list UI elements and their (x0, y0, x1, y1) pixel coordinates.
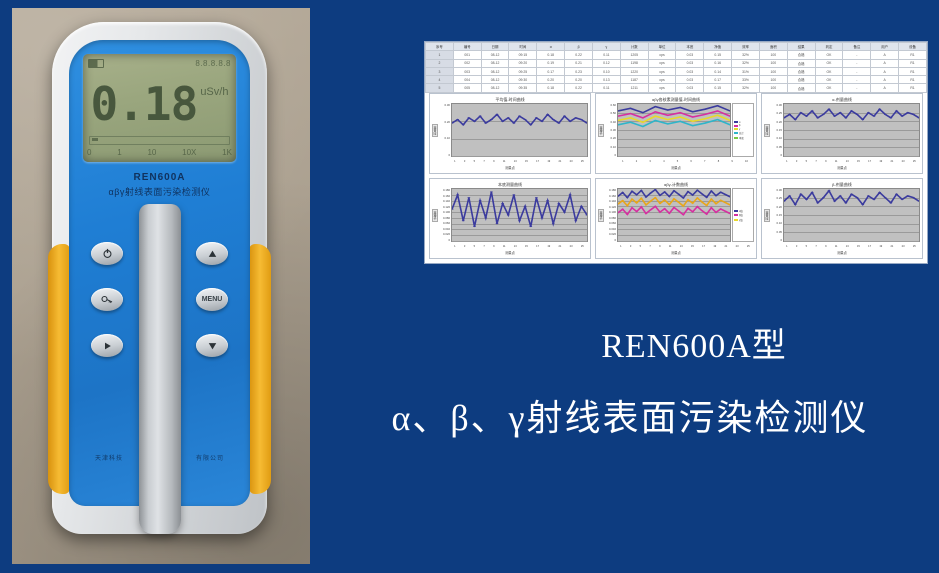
chart-data-point (704, 114, 706, 115)
chart-data-point (629, 108, 631, 109)
chart-panel[interactable]: 本底测量曲线计数率0.1800.1600.1400.1200.1000.0800… (429, 178, 591, 259)
chart-panel[interactable]: αβγ-计数曲线计数率0.1800.1600.1400.1200.1000.08… (595, 178, 757, 259)
chart-x-axis-ticks: 12345678910 (598, 157, 754, 165)
table-cell: 0.18 (537, 84, 565, 92)
chart-data-point (691, 194, 693, 195)
table-column-header: 计数 (620, 43, 648, 51)
x-tick: 23 (736, 245, 739, 248)
table-cell: OK (815, 76, 843, 84)
x-tick: 13 (846, 245, 849, 248)
chart-data-point (677, 210, 679, 211)
chart-data-point (805, 199, 808, 200)
chart-data-point (822, 197, 825, 198)
x-tick: 7 (815, 245, 816, 248)
y-tick: 0.160 (603, 194, 616, 198)
table-cell: 0.15 (704, 84, 732, 92)
legend-swatch (734, 214, 738, 216)
chart-data-point (691, 121, 693, 122)
menu-button[interactable]: MENU (196, 288, 228, 311)
chart-data-point (629, 117, 631, 118)
chart-data-point (878, 192, 881, 193)
table-cell: 08-12 (481, 59, 509, 67)
chart-data-point (574, 220, 577, 221)
table-cell: OK (815, 51, 843, 59)
chart-x-axis-label: 测量点 (764, 165, 920, 171)
product-photo: 8.8.8.8.8 0.18 uSv/h 011010X1K REN600A α… (12, 8, 310, 564)
chart-data-point (462, 220, 465, 221)
table-column-header: 日期 (481, 43, 509, 51)
chart-x-axis-label: 测量点 (432, 250, 588, 256)
chart-title: β-剂量曲线 (764, 181, 920, 188)
y-tick: 0.140 (437, 199, 450, 203)
chart-data-point (467, 117, 470, 118)
table-row[interactable]: 500508-1209:350.180.220.111211cps0.030.1… (426, 84, 927, 92)
chart-data-point (701, 193, 703, 194)
chart-data-point (850, 110, 853, 111)
chart-series-line (618, 120, 730, 127)
chart-data-point (654, 106, 656, 107)
legend-swatch (734, 210, 738, 212)
table-cell: 1211 (620, 84, 648, 92)
chart-data-point (535, 197, 538, 198)
chart-data-point (673, 207, 675, 208)
table-cell: A (871, 67, 899, 75)
chart-data-point (574, 117, 577, 118)
table-cell: OK (815, 84, 843, 92)
chart-data-point (696, 190, 698, 191)
table-cell: 1198 (620, 59, 648, 67)
chart-data-point (794, 119, 797, 120)
table-cell: 4 (426, 76, 454, 84)
chart-data-point (507, 117, 510, 118)
chart-data-point (654, 206, 656, 207)
chart-data-point (654, 120, 656, 121)
y-tick: 0.30 (769, 188, 782, 192)
down-button[interactable] (196, 334, 228, 357)
x-tick: 5 (640, 245, 641, 248)
chart-data-point (659, 195, 661, 196)
chart-series-svg (784, 189, 919, 241)
x-tick: 25 (747, 245, 750, 248)
table-row[interactable]: 200208-1209:200.190.210.121198cps0.030.1… (426, 59, 927, 67)
x-tick: 5 (806, 245, 807, 248)
chart-series-svg (452, 104, 587, 156)
x-tick: 11 (669, 245, 672, 248)
key-button[interactable] (91, 288, 123, 311)
y-tick: 0.060 (603, 221, 616, 225)
title-block: REN600A型 α、β、γ射线表面污染检测仪 (330, 318, 930, 441)
chart-data-point (552, 223, 555, 224)
chart-y-axis-ticks: 0.300.250.200.150.100.050 (769, 103, 783, 157)
chart-data-point (586, 214, 587, 215)
x-tick: 15 (525, 160, 528, 163)
chart-data-point (861, 204, 864, 205)
chart-title: αβγ各核素测量值-时间曲线 (598, 96, 754, 103)
chart-data-point (901, 116, 904, 117)
chart-x-axis-label: 测量点 (764, 250, 920, 256)
table-cell: 0.12 (592, 59, 620, 67)
chart-data-point (642, 112, 644, 113)
device-label: REN600A αβγ射线表面污染检测仪 (69, 172, 250, 198)
chart-data-point (691, 111, 693, 112)
chart-data-point (816, 117, 819, 118)
chart-data-point (833, 116, 836, 117)
table-column-header: 判定 (815, 43, 843, 51)
table-column-header: 净值 (704, 43, 732, 51)
table-cell: 32% (732, 51, 760, 59)
chart-data-point (696, 197, 698, 198)
chart-y-axis-ticks: 0.300.250.200.150.100.050 (769, 188, 783, 242)
table-cell: OK (815, 67, 843, 75)
gridline (784, 241, 919, 242)
gridline (784, 156, 919, 157)
chart-panel[interactable]: β-剂量曲线剂量率0.300.250.200.150.100.050135791… (761, 178, 923, 259)
chart-data-point (691, 203, 693, 204)
x-tick: 21 (558, 160, 561, 163)
x-tick: 1 (622, 160, 623, 163)
chart-y-axis-ticks: 0.1800.1600.1400.1200.1000.0800.0600.040… (603, 188, 617, 242)
table-cell: 3 (426, 67, 454, 75)
y-tick: 0.20 (769, 205, 782, 209)
chart-data-point (529, 124, 532, 125)
table-cell: cps (648, 59, 676, 67)
chart-panel[interactable]: αβγ各核素测量值-时间曲线计数率0.600.500.400.300.200.1… (595, 93, 757, 174)
up-button[interactable] (196, 242, 228, 265)
table-cell: - (843, 84, 871, 92)
measurement-data-table: 序号编号日期时间αβγ计数单位本底净值效率面积结果判定备注用户设备 100108… (425, 42, 927, 93)
y-tick: 0.25 (769, 111, 782, 115)
x-tick: 9 (493, 245, 494, 248)
x-tick: 21 (724, 245, 727, 248)
play-button[interactable] (91, 334, 123, 357)
chart-data-point (878, 109, 881, 110)
chart-data-point (687, 199, 689, 200)
y-tick: 0.05 (769, 145, 782, 149)
legend-label: γ值 (739, 218, 743, 222)
x-tick: 3 (649, 160, 650, 163)
chart-data-point (667, 123, 669, 124)
x-tick: 7 (815, 160, 816, 163)
table-cell: 003 (453, 67, 481, 75)
chart-y-axis-ticks: 0.1800.1600.1400.1200.1000.0800.0600.040… (437, 188, 451, 242)
chart-data-point (679, 121, 681, 122)
x-tick: 25 (581, 160, 584, 163)
lcd-scale-tick: 0 (87, 148, 91, 160)
y-tick: 0.080 (603, 216, 616, 220)
chart-data-point (799, 194, 802, 195)
table-cell: 2 (426, 59, 454, 67)
chart-data-point (691, 116, 693, 117)
x-tick: 9 (659, 245, 660, 248)
y-tick: 0.020 (437, 232, 450, 236)
chart-data-point (518, 220, 521, 221)
x-tick: 11 (503, 245, 506, 248)
y-tick: 0.100 (437, 210, 450, 214)
table-cell: 合格 (787, 59, 815, 67)
chart-data-point (654, 197, 656, 198)
chart-data-point (844, 202, 847, 203)
chart-data-point (452, 209, 453, 210)
lcd-scale-ticks: 011010X1K (87, 148, 232, 160)
chart-data-point (645, 197, 647, 198)
chart-data-point (667, 119, 669, 120)
chart-data-point (649, 209, 651, 210)
chart-data-point (512, 194, 515, 195)
x-tick: 1 (786, 160, 787, 163)
table-cell: 001 (453, 51, 481, 59)
chart-data-point (704, 122, 706, 123)
chart-data-point (490, 191, 493, 192)
chart-data-point (828, 109, 831, 110)
chart-x-axis-ticks: 135791113151719212325 (764, 242, 920, 250)
table-column-header: 效率 (732, 43, 760, 51)
x-tick: 15 (857, 245, 860, 248)
chart-data-point (856, 114, 859, 115)
y-tick: 0.50 (603, 111, 616, 115)
x-tick: 2 (636, 160, 637, 163)
x-tick: 10 (745, 160, 748, 163)
table-cell: OK (815, 59, 843, 67)
chart-data-point (569, 121, 572, 122)
chart-data-point (816, 202, 819, 203)
chart-data-point (805, 116, 808, 117)
chart-data-point (719, 200, 721, 201)
x-tick: 11 (835, 160, 838, 163)
chart-x-axis-ticks: 135791113151719212325 (432, 157, 588, 165)
chart-data-point (682, 205, 684, 206)
table-cell: R1 (899, 67, 927, 75)
chart-data-point (626, 197, 628, 198)
chart-data-point (467, 197, 470, 198)
lcd-scale-tick: 1K (222, 148, 232, 160)
x-tick: 19 (879, 245, 882, 248)
chart-data-point (687, 191, 689, 192)
chart-data-point (557, 122, 560, 123)
table-cell: 005 (453, 84, 481, 92)
x-tick: 7 (704, 160, 705, 163)
chart-data-point (663, 199, 665, 200)
chart-data-point (621, 192, 623, 193)
chart-plot-area (783, 188, 920, 242)
table-cell: 1187 (620, 76, 648, 84)
chart-data-point (635, 211, 637, 212)
y-tick: 0.10 (437, 136, 450, 140)
x-tick: 7 (483, 245, 484, 248)
x-tick: 15 (857, 160, 860, 163)
chart-data-point (621, 200, 623, 201)
chart-data-point (645, 213, 647, 214)
power-button[interactable] (91, 242, 123, 265)
chart-data-point (715, 203, 717, 204)
chart-data-point (663, 208, 665, 209)
table-cell: 09:30 (509, 76, 537, 84)
table-cell: 09:25 (509, 67, 537, 75)
chart-data-point (631, 199, 633, 200)
side-grip-left (48, 244, 70, 494)
chart-plot-area (451, 103, 588, 157)
side-grip-right (249, 244, 271, 494)
chart-data-point (906, 195, 909, 196)
chart-data-point (640, 190, 642, 191)
chart-data-point (719, 208, 721, 209)
chart-data-point (828, 190, 831, 191)
chart-title: 本底测量曲线 (432, 181, 588, 188)
table-cell: 100 (759, 84, 787, 92)
chart-plot-area (617, 188, 731, 242)
chart-data-point (867, 112, 870, 113)
chart-data-point (667, 115, 669, 116)
table-cell: A (871, 59, 899, 67)
table-cell: 合格 (787, 67, 815, 75)
chart-data-point (687, 208, 689, 209)
chart-series-svg (784, 104, 919, 156)
table-cell: 0.18 (537, 51, 565, 59)
y-tick: 0.10 (603, 145, 616, 149)
chart-data-point (701, 210, 703, 211)
table-cell: 合格 (787, 84, 815, 92)
table-column-header: β (565, 43, 593, 51)
table-cell: 0.03 (676, 76, 704, 84)
y-tick: 0.180 (603, 188, 616, 192)
chart-series-line (452, 192, 587, 227)
chart-data-point (724, 211, 726, 212)
table-cell: 31% (732, 67, 760, 75)
chart-data-point (705, 205, 707, 206)
legend-item: β值 (734, 213, 752, 217)
chart-data-point (710, 190, 712, 191)
chart-data-point (649, 201, 651, 202)
x-tick: 3 (464, 245, 465, 248)
y-tick: 0.020 (603, 232, 616, 236)
table-row[interactable]: 100108-1209:150.180.220.111205cps0.030.1… (426, 51, 927, 59)
legend-swatch (734, 132, 738, 134)
x-tick: 1 (454, 245, 455, 248)
chart-x-axis-label: 测量点 (598, 165, 754, 171)
table-cell: 合格 (787, 76, 815, 84)
x-tick: 9 (825, 160, 826, 163)
x-tick: 19 (547, 245, 550, 248)
chart-data-point (719, 192, 721, 193)
table-cell: 1205 (620, 51, 648, 59)
chart-data-point (715, 195, 717, 196)
chart-data-point (557, 203, 560, 204)
chart-data-point (705, 214, 707, 215)
chart-data-point (654, 189, 656, 190)
table-cell: 09:15 (509, 51, 537, 59)
chart-data-point (811, 192, 814, 193)
chart-data-point (580, 119, 583, 120)
chart-data-point (484, 122, 487, 123)
x-tick: 11 (503, 160, 506, 163)
x-tick: 23 (902, 245, 905, 248)
chart-panel[interactable]: 平均值-时间曲线剂量率0.300.200.1001357911131517192… (429, 93, 591, 174)
key-icon (101, 295, 113, 305)
chart-data-point (642, 117, 644, 118)
chart-data-point (668, 213, 670, 214)
chart-data-point (679, 112, 681, 113)
chart-data-point (873, 116, 876, 117)
chart-data-point (535, 117, 538, 118)
chart-data-point (654, 111, 656, 112)
table-cell: A (871, 76, 899, 84)
legend-item: α值 (734, 209, 752, 213)
chart-data-point (629, 122, 631, 123)
y-tick: 0.15 (769, 128, 782, 132)
chart-data-point (677, 202, 679, 203)
table-column-header: 时间 (509, 43, 537, 51)
chart-x-axis-ticks: 135791113151719212325 (764, 157, 920, 165)
chart-data-point (507, 214, 510, 215)
gridline (452, 241, 587, 242)
table-cell: - (843, 67, 871, 75)
chart-plot-area (617, 103, 731, 157)
table-row[interactable]: 300308-1209:250.170.230.101220cps0.030.1… (426, 67, 927, 75)
y-tick: 0.20 (437, 120, 450, 124)
lcd-value: 0.18 (91, 81, 198, 127)
chart-data-point (456, 119, 459, 120)
chart-data-point (724, 194, 726, 195)
device-label-chinese: αβγ射线表面污染检测仪 (69, 185, 250, 198)
chart-data-point (479, 200, 482, 201)
menu-button-label: MENU (202, 296, 223, 303)
battery-icon (88, 59, 104, 68)
chart-data-point (524, 119, 527, 120)
table-column-header: 用户 (871, 43, 899, 51)
chart-data-point (867, 195, 870, 196)
lcd-scale-tick: 1 (117, 148, 121, 160)
chart-data-point (649, 192, 651, 193)
x-tick: 5 (677, 160, 678, 163)
chart-data-point (563, 116, 566, 117)
x-tick: 23 (570, 160, 573, 163)
table-cell: 08-12 (481, 84, 509, 92)
chart-panel[interactable]: α-剂量曲线剂量率0.300.250.200.150.100.050135791… (761, 93, 923, 174)
slide-background: 8.8.8.8.8 0.18 uSv/h 011010X1K REN600A α… (0, 0, 939, 573)
chart-x-axis-ticks: 135791113151719212325 (598, 242, 754, 250)
legend-label: α值 (739, 209, 743, 213)
table-column-header: 设备 (899, 43, 927, 51)
gridline (618, 241, 730, 242)
x-tick: 3 (796, 160, 797, 163)
chart-data-point (889, 202, 892, 203)
chart-data-point (788, 195, 791, 196)
chart-data-point (673, 190, 675, 191)
table-cell: 0.17 (537, 67, 565, 75)
table-row[interactable]: 400408-1209:300.200.200.131187cps0.030.1… (426, 76, 927, 84)
y-tick: 0.060 (437, 221, 450, 225)
table-cell: 0.16 (704, 59, 732, 67)
chart-data-point (716, 115, 718, 116)
table-cell: 5 (426, 84, 454, 92)
chart-data-point (456, 194, 459, 195)
chart-data-point (889, 117, 892, 118)
y-tick: 0.15 (769, 213, 782, 217)
chart-data-point (895, 194, 898, 195)
chart-data-point (788, 114, 791, 115)
chart-data-point (710, 199, 712, 200)
legend-swatch (734, 137, 738, 139)
x-tick: 9 (731, 160, 732, 163)
chart-data-point (691, 125, 693, 126)
chart-data-point (626, 214, 628, 215)
chart-data-point (663, 191, 665, 192)
x-tick: 11 (835, 245, 838, 248)
table-column-header: 编号 (453, 43, 481, 51)
chart-data-point (844, 117, 847, 118)
table-cell: 0.03 (676, 51, 704, 59)
gridline (618, 156, 730, 157)
table-cell: A (871, 51, 899, 59)
